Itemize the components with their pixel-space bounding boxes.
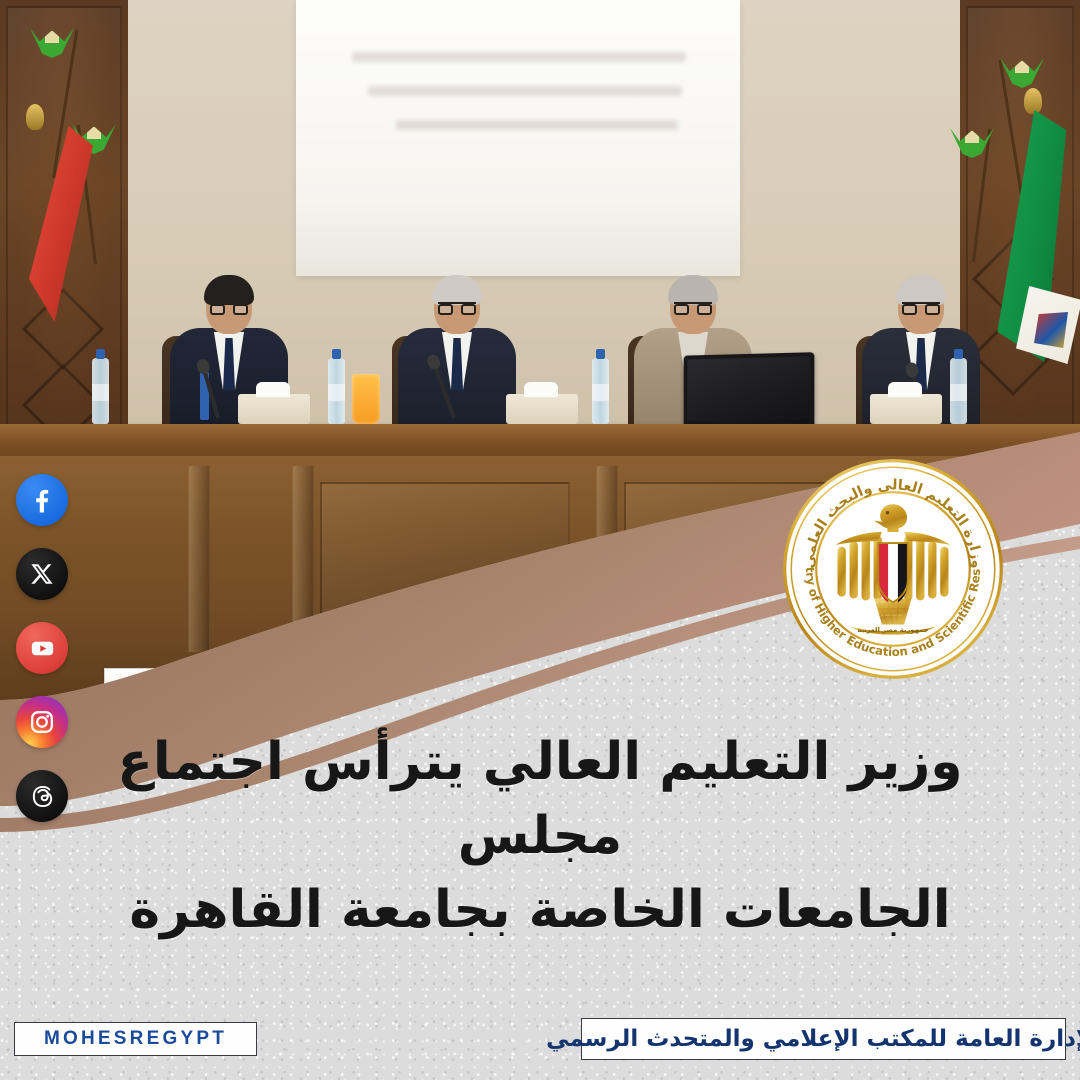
- tissue-box: [870, 394, 942, 424]
- water-bottle: [328, 358, 345, 424]
- water-bottle: [592, 358, 609, 424]
- conference-table-top: [0, 424, 1080, 458]
- seal-motto-text: جمهورية مصر العربية: [857, 626, 928, 634]
- eyeglasses: [438, 302, 476, 313]
- youtube-icon[interactable]: [16, 622, 68, 674]
- panel-participant: [398, 280, 516, 440]
- eyeglasses: [902, 302, 940, 313]
- laptop: [684, 352, 815, 430]
- projection-screen: [296, 0, 740, 276]
- juice-glass: [352, 374, 380, 424]
- social-handle-text: MOHESREGYPT: [44, 1028, 227, 1050]
- social-media-card: وزارة التعليم العالى والبحث العلمى Minis…: [0, 0, 1080, 1080]
- tissue-box: [238, 394, 310, 424]
- headline-line-2: الجامعات الخاصة بجامعة القاهرة: [60, 874, 1020, 948]
- flag-cairo-university-right: [1020, 88, 1046, 368]
- eyeglasses: [210, 302, 248, 313]
- flag-red-left: [22, 104, 48, 334]
- lotus-decoration-right-lower: [950, 128, 994, 262]
- water-bottle: [92, 358, 109, 424]
- press-office-badge: الإدارة العامة للمكتب الإعلامي والمتحدث …: [581, 1018, 1066, 1060]
- egypt-flag-shield-icon: [878, 543, 908, 602]
- water-bottle: [950, 358, 967, 424]
- page-title: وزير التعليم العالي يترأس اجتماع مجلس ال…: [60, 726, 1020, 947]
- social-handle-badge: MOHESREGYPT: [14, 1022, 257, 1056]
- press-office-text: الإدارة العامة للمكتب الإعلامي والمتحدث …: [546, 1026, 1080, 1052]
- eyeglasses: [674, 302, 712, 313]
- facebook-icon[interactable]: [16, 474, 68, 526]
- tissue-box: [506, 394, 578, 424]
- x-icon[interactable]: [16, 548, 68, 600]
- seal-motto-scroll: جمهورية مصر العربية: [850, 626, 935, 635]
- headline-line-1: وزير التعليم العالي يترأس اجتماع مجلس: [60, 726, 1020, 874]
- ministry-seal-logo: وزارة التعليم العالى والبحث العلمى Minis…: [782, 458, 1004, 680]
